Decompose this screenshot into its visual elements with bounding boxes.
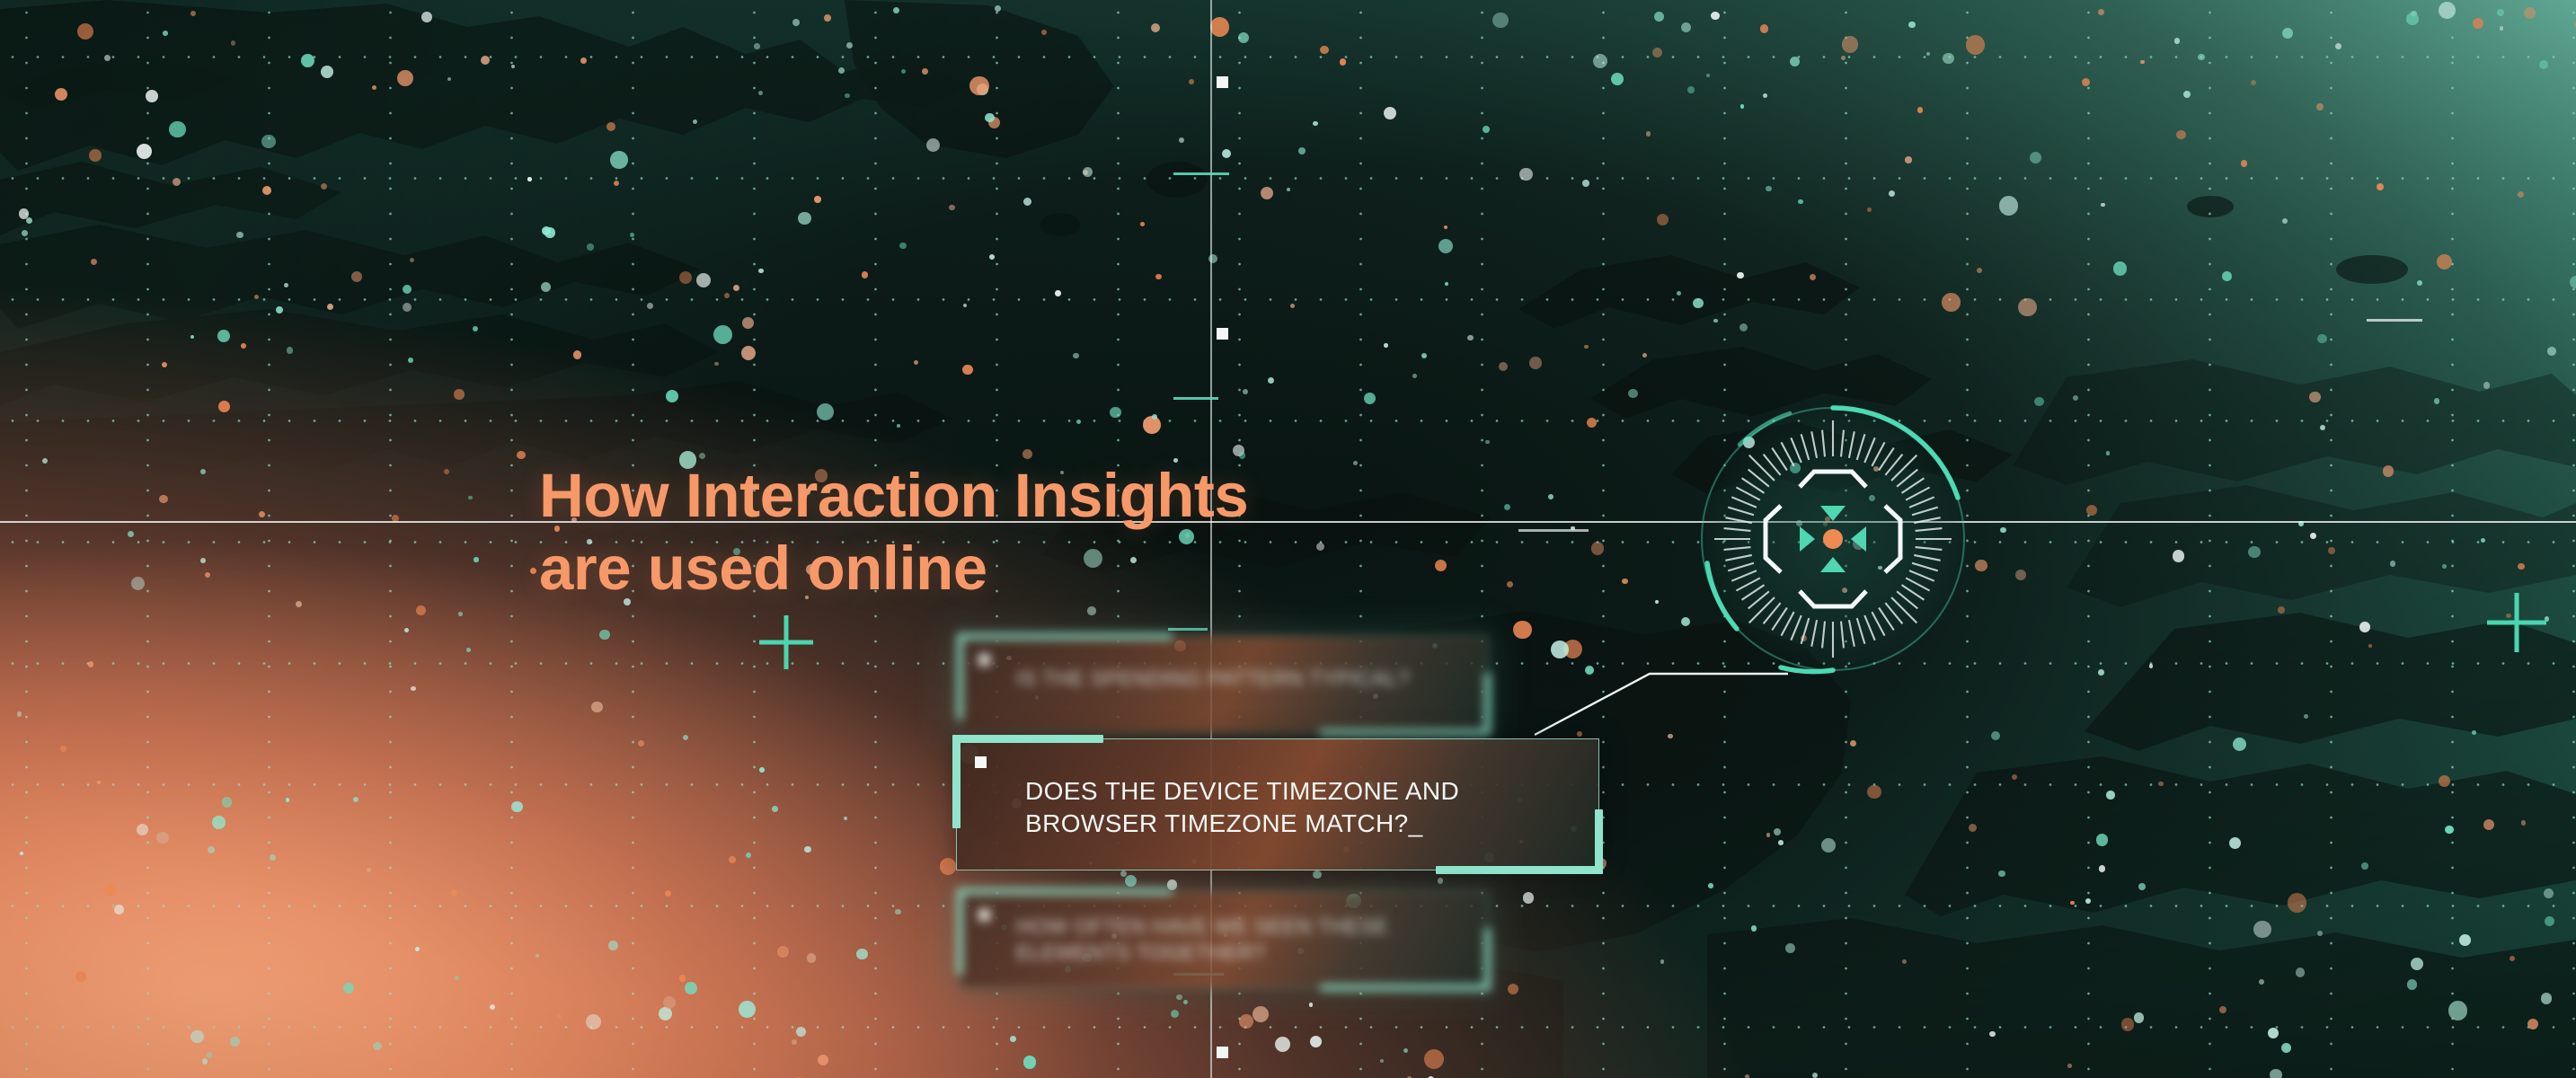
vignette-overlay xyxy=(0,0,2576,1078)
hero-canvas: How Interaction Insights are used online… xyxy=(0,0,2576,1078)
